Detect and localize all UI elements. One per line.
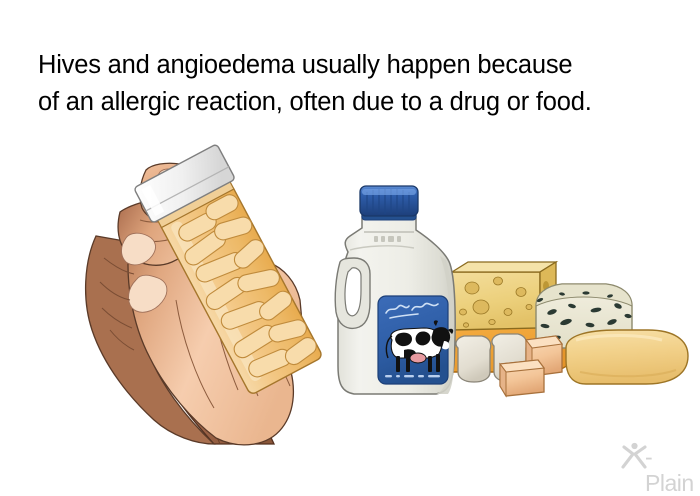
hand-with-pill-bottle bbox=[86, 144, 329, 445]
jug-handle-hole bbox=[345, 268, 361, 316]
cheese-assortment bbox=[452, 262, 688, 396]
jug-cap bbox=[360, 186, 418, 220]
logo-text: -Plain bbox=[645, 444, 695, 496]
page-caption: Hives and angioedema usually happen beca… bbox=[38, 47, 668, 121]
mozzarella-ball-1 bbox=[456, 336, 491, 382]
x-plain-logo: -Plain bbox=[621, 441, 695, 473]
milk-jug bbox=[335, 186, 455, 394]
jug-label bbox=[378, 296, 453, 384]
